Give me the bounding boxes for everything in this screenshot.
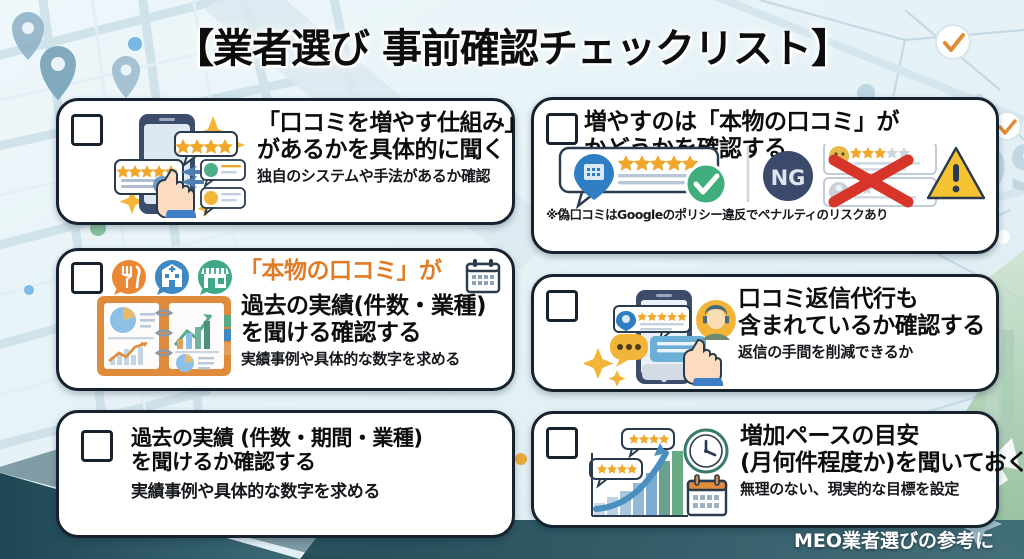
page-title: 【業者選び 事前確認チェックリスト】 xyxy=(174,16,850,74)
illustration-phone-reply-agent xyxy=(584,286,736,386)
card-2-line-1: 増やすのは「本物の口コミ」が xyxy=(584,109,986,136)
hospital-icon xyxy=(155,260,189,295)
checklist-card-4[interactable]: 口コミ返信代行も 含まれているか確認する 返信の手間を削減できるか xyxy=(531,274,999,392)
card-3-line-2: 過去の実績(件数・業種) xyxy=(241,293,502,320)
card-6-line-2: (月何件程度か)を聞いておく xyxy=(740,450,986,477)
checkbox-6[interactable] xyxy=(546,427,578,459)
calendar-icon xyxy=(464,258,502,294)
card-1-line-2: があるかを具体的に聞く xyxy=(257,137,502,164)
checkbox-1[interactable] xyxy=(71,114,103,146)
card-4-line-1: 口コミ返信代行も xyxy=(738,286,986,313)
checkbox-3[interactable] xyxy=(71,262,103,294)
card-3-headline: 「本物の口コミ」が xyxy=(239,258,464,285)
page-title-wrap: 【業者選び 事前確認チェックリスト】 xyxy=(0,16,1024,74)
card-5-line-2: を聞けるか確認する xyxy=(131,450,502,474)
card-5-text: 過去の実績 (件数・期間・業種) を聞けるか確認する 実績事例や具体的な数字を求… xyxy=(131,426,502,502)
footer-caption: MEO業者選びの参考に xyxy=(794,526,994,553)
card-6-text: 増加ペースの目安 (月何件程度か)を聞いておく 無理のない、現実的な目標を設定 xyxy=(740,423,986,499)
checklist-card-1[interactable]: 「口コミを増やす仕組み」 があるかを具体的に聞く 独自のシステムや手法があるか確… xyxy=(56,98,515,225)
card-4-text: 口コミ返信代行も 含まれているか確認する 返信の手間を削減できるか xyxy=(738,286,986,362)
category-icon-group xyxy=(109,259,235,295)
checklist-card-2[interactable]: 増やすのは「本物の口コミ」が かどうかを確認する xyxy=(531,97,999,254)
card-3-bottom-row: 過去の実績(件数・業種) を聞ける確認する 実績事例や具体的な数字を求める xyxy=(71,293,502,379)
card-5-line-1: 過去の実績 (件数・期間・業種) xyxy=(131,426,502,450)
card-3-line-1: 「本物の口コミ」が xyxy=(239,258,464,285)
card-6-line-1: 増加ペースの目安 xyxy=(740,423,986,450)
card-3-line-3: を聞ける確認する xyxy=(241,320,502,347)
restaurant-icon xyxy=(112,260,146,295)
card-4-line-2: 含まれているか確認する xyxy=(738,313,986,340)
card-5-sub: 実績事例や具体的な数字を求める xyxy=(131,477,502,502)
infographic-root: OS xyxy=(0,0,1024,559)
checklist-card-3[interactable]: 「本物の口コミ」が xyxy=(56,248,515,391)
illustration-phone-reviews-hand xyxy=(109,110,257,218)
card-3-text: 過去の実績(件数・業種) を聞ける確認する 実績事例や具体的な数字を求める xyxy=(241,293,502,369)
card-1-text: 「口コミを増やす仕組み」 があるかを具体的に聞く 独自のシステムや手法があるか確… xyxy=(257,110,502,186)
card-3-top-row: 「本物の口コミ」が xyxy=(71,258,502,295)
checklist-card-5[interactable]: 過去の実績 (件数・期間・業種) を聞けるか確認する 実績事例や具体的な数字を求… xyxy=(56,410,515,538)
checkbox-5[interactable] xyxy=(81,430,113,462)
checklist-card-6[interactable]: 増加ペースの目安 (月何件程度か)を聞いておく 無理のない、現実的な目標を設定 xyxy=(531,411,999,528)
shop-icon xyxy=(198,260,232,295)
checkbox-2[interactable] xyxy=(546,113,578,145)
card-3-sub: 実績事例や具体的な数字を求める xyxy=(241,348,502,369)
illustration-binder-charts xyxy=(95,293,235,379)
illustration-growth-chart-clock-calendar xyxy=(584,423,738,523)
card-6-sub: 無理のない、現実的な目標を設定 xyxy=(740,478,986,499)
illustration-real-vs-fake-reviews: NG xyxy=(546,142,986,204)
card-1-line-1: 「口コミを増やす仕組み」 xyxy=(257,110,502,137)
svg-text:NG: NG xyxy=(771,166,806,190)
card-4-sub: 返信の手間を削減できるか xyxy=(738,341,986,362)
card-1-sub: 独自のシステムや手法があるか確認 xyxy=(257,165,502,186)
checkbox-4[interactable] xyxy=(546,290,578,322)
